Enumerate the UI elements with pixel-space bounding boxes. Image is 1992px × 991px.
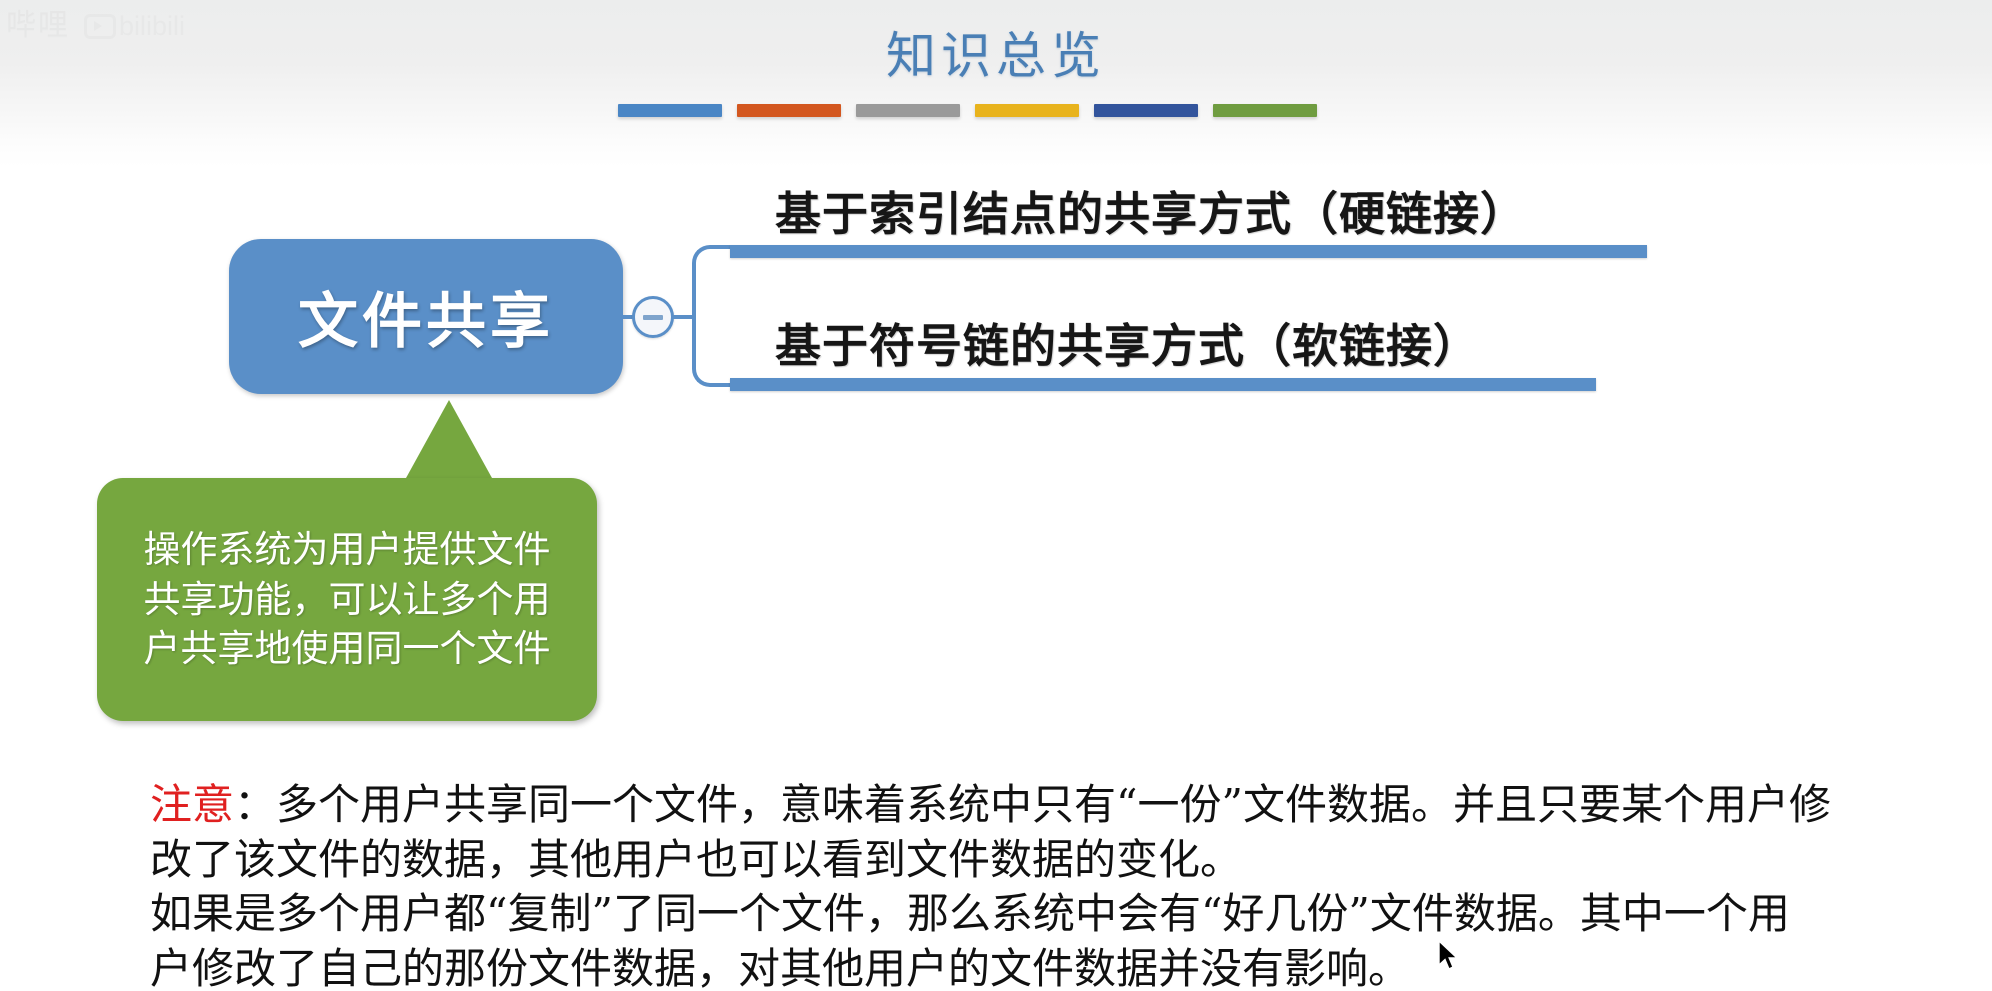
mindmap-branch-label-soft-link: 基于符号链的共享方式（软链接） [775,310,1480,376]
presentation-slide: 哔哩 bilibili 知识总览 文件共享 基于索引结点的共享方式（硬链接） [0,0,1992,991]
mindmap-root-node[interactable]: 文件共享 [229,239,623,394]
note-line-4: 户修改了自己的那份文件数据，对其他用户的文件数据并没有影响。 [150,942,1870,991]
collapse-toggle-button[interactable] [632,296,674,338]
mindmap-diagram: 文件共享 基于索引结点的共享方式（硬链接） 基于符号链的共享方式（软链接） 操作… [0,0,1992,760]
branch-bracket [692,245,738,387]
connector-right [672,315,694,319]
note-line-1-text: ：多个用户共享同一个文件，意味着系统中只有“一份”文件数据。并且只要某个用户修 [234,780,1831,829]
mindmap-callout-box[interactable]: 操作系统为用户提供文件共享功能，可以让多个用户共享地使用同一个文件 [97,478,597,721]
mindmap-branch-label-hard-link: 基于索引结点的共享方式（硬链接） [775,178,1527,244]
note-paragraph: 注意：多个用户共享同一个文件，意味着系统中只有“一份”文件数据。并且只要某个用户… [150,778,1870,991]
mindmap-branch-underline-hard-link [730,245,1647,258]
note-emphasis-label: 注意 [150,780,234,829]
note-line-3: 如果是多个用户都“复制”了同一个文件，那么系统中会有“好几份”文件数据。其中一个… [150,887,1870,942]
mindmap-branch-underline-soft-link [730,378,1596,391]
note-line-2: 改了该文件的数据，其他用户也可以看到文件数据的变化。 [150,833,1870,888]
mindmap-root-label: 文件共享 [298,273,554,360]
note-line-1: 注意：多个用户共享同一个文件，意味着系统中只有“一份”文件数据。并且只要某个用户… [150,778,1870,833]
minus-icon [643,315,663,320]
mindmap-callout-text: 操作系统为用户提供文件共享功能，可以让多个用户共享地使用同一个文件 [140,525,554,674]
